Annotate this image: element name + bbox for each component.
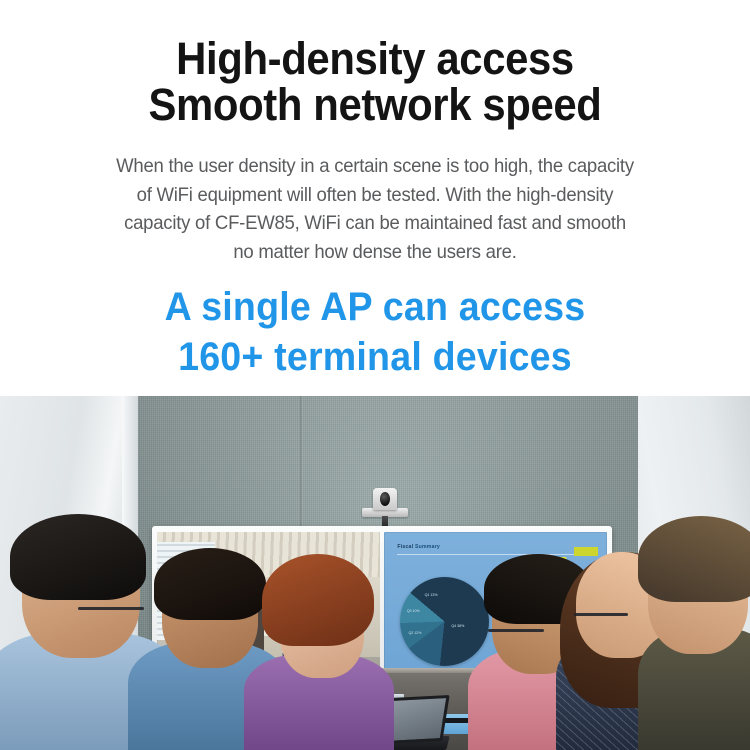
paragraph-line-1: When the user density in a certain scene…	[62, 152, 689, 181]
dashboard-title: Fiscal Summary	[397, 544, 440, 550]
dashboard-title-part-b: Summary	[415, 544, 440, 550]
camera-lens	[380, 492, 390, 506]
promo-page: High-density access Smooth network speed…	[0, 0, 750, 750]
person-seat-left-3	[244, 582, 394, 750]
paragraph-line-2: of WiFi equipment will often be tested. …	[62, 181, 689, 210]
claim-line-2: 160+ terminal devices	[23, 332, 728, 382]
claim-line-1: A single AP can access	[23, 282, 728, 332]
description-paragraph: When the user density in a certain scene…	[62, 152, 689, 266]
pie-label-0: Q4 38%	[451, 624, 464, 628]
conference-room-photo: Fiscal Summary Q4 38% Q1 13% Q3 10% Q2 1…	[0, 396, 750, 750]
pie-label-2: Q3 10%	[407, 609, 420, 613]
dashboard-title-part-a: Fiscal	[397, 544, 413, 550]
page-title: High-density access Smooth network speed	[26, 36, 724, 128]
person-hair	[10, 514, 146, 600]
text-section: High-density access Smooth network speed…	[0, 0, 750, 396]
paragraph-line-4: no matter how dense the users are.	[62, 238, 689, 267]
ptz-camera-icon	[362, 488, 408, 528]
person-seat-right-3	[638, 536, 750, 750]
headline-line-1: High-density access	[26, 36, 724, 82]
person-hair	[638, 516, 750, 602]
pie-label-3: Q2 12%	[409, 631, 422, 635]
person-hair	[262, 554, 374, 646]
paragraph-line-3: capacity of CF-EW85, WiFi can be maintai…	[62, 209, 689, 238]
eyeglasses-icon	[574, 613, 628, 616]
pie-label-1: Q1 13%	[425, 593, 438, 597]
headline-line-2: Smooth network speed	[26, 82, 724, 128]
capacity-claim: A single AP can access 160+ terminal dev…	[23, 282, 728, 382]
eyeglasses-icon	[488, 629, 544, 632]
